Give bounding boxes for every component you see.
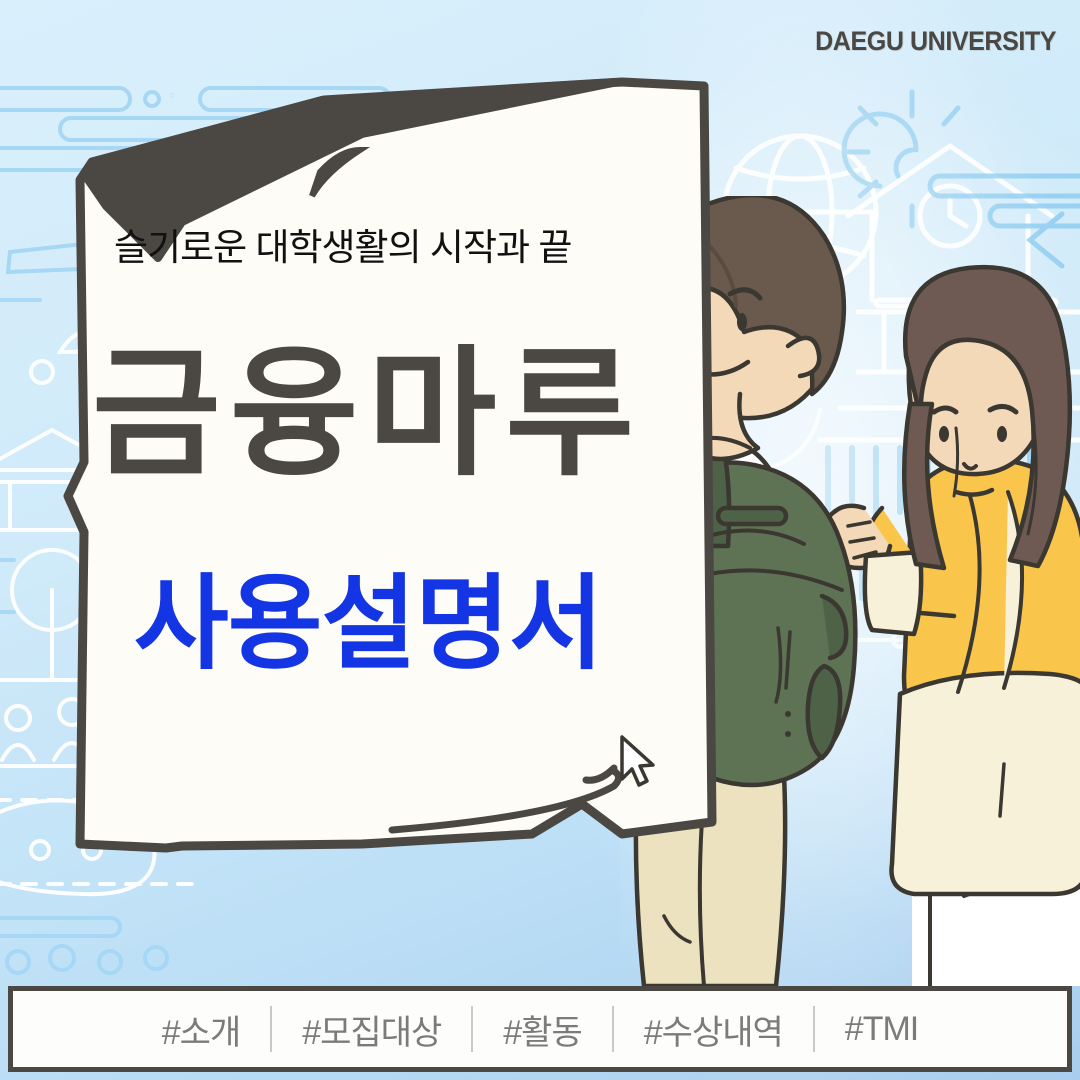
brand-wordmark: DAEGU UNIVERSITY [815,26,1056,57]
tag-item-2[interactable]: #활동 [473,1005,611,1054]
tag-item-1[interactable]: #모집대상 [272,1005,471,1054]
poster-canvas: DAEGU UNIVERSITY [0,0,1080,1080]
mouse-pointer-icon [618,735,658,793]
tag-item-0[interactable]: #소개 [132,1005,270,1054]
tag-item-3[interactable]: #수상내역 [614,1005,813,1054]
tag-item-4[interactable]: #TMI [815,1010,948,1049]
tag-bar: #소개 #모집대상 #활동 #수상내역 #TMI [8,986,1072,1072]
